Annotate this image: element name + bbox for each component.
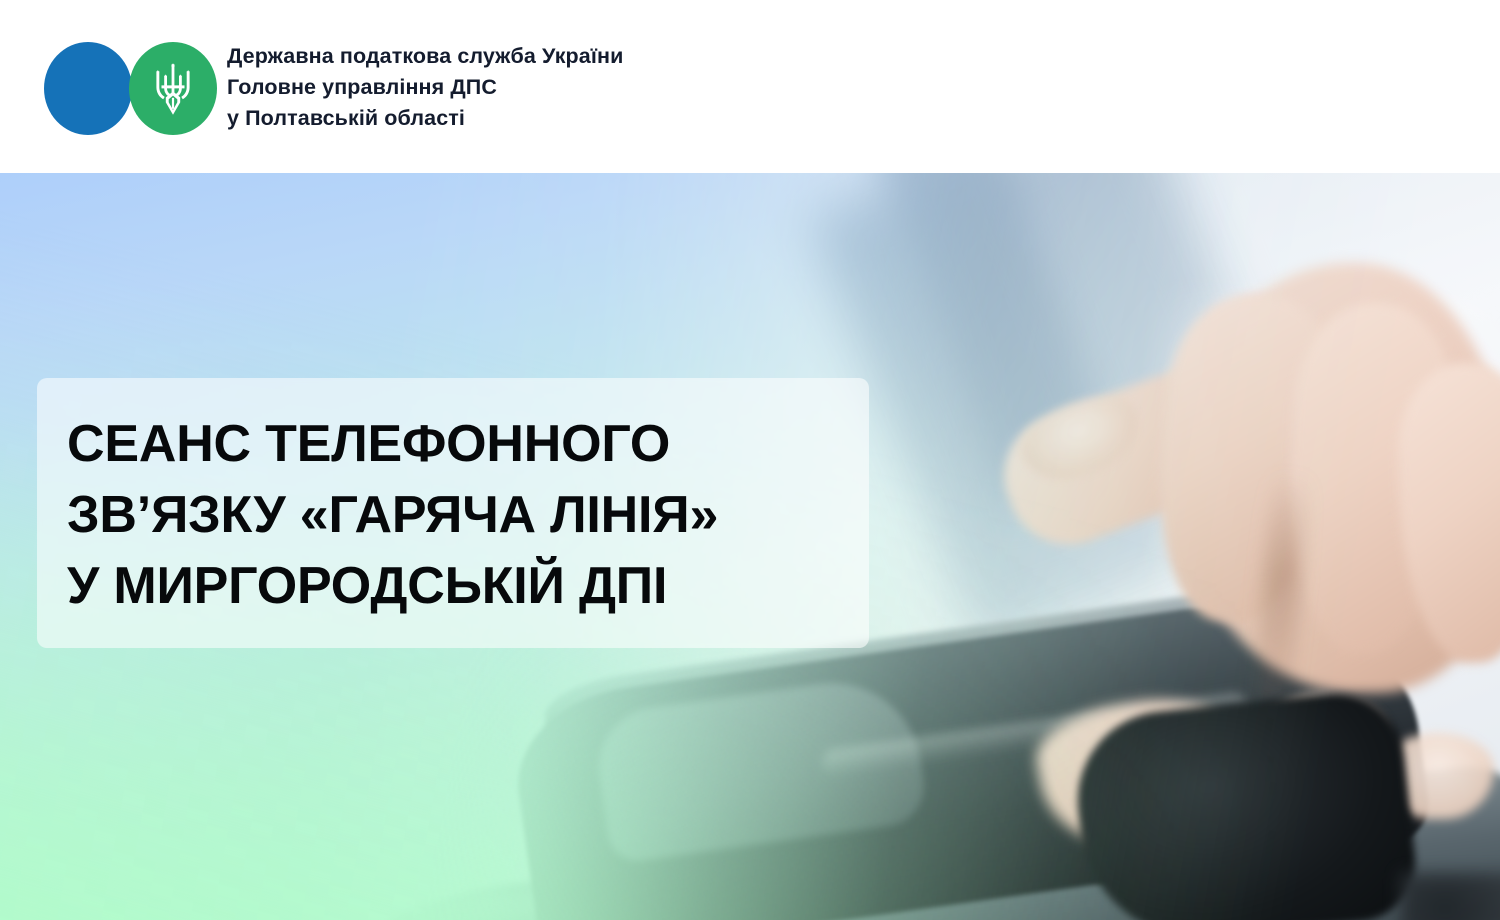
dps-logo-blue-circle bbox=[44, 42, 132, 135]
org-unit-line-1: Головне управління ДПС bbox=[227, 72, 867, 103]
org-unit-line-2: у Полтавській області bbox=[227, 103, 867, 134]
tryzub-icon bbox=[153, 63, 193, 115]
site-header: Державна податкова служба України Головн… bbox=[0, 0, 1500, 173]
headline-line-1: СЕАНС ТЕЛЕФОННОГО bbox=[67, 409, 829, 480]
org-identity: Державна податкова служба України Головн… bbox=[227, 41, 867, 134]
org-name: Державна податкова служба України bbox=[227, 41, 867, 72]
hero-section: СЕАНС ТЕЛЕФОННОГО ЗВ’ЯЗКУ «ГАРЯЧА ЛІНІЯ»… bbox=[0, 173, 1500, 920]
headline-line-3: У МИРГОРОДСЬКІЙ ДПІ bbox=[67, 551, 829, 622]
headline-line-2: ЗВ’ЯЗКУ «ГАРЯЧА ЛІНІЯ» bbox=[67, 480, 829, 551]
banner-root: Державна податкова служба України Головн… bbox=[0, 0, 1500, 920]
dps-logo-green-circle bbox=[129, 42, 217, 135]
headline-panel: СЕАНС ТЕЛЕФОННОГО ЗВ’ЯЗКУ «ГАРЯЧА ЛІНІЯ»… bbox=[37, 378, 869, 648]
dps-logo[interactable] bbox=[44, 42, 214, 135]
